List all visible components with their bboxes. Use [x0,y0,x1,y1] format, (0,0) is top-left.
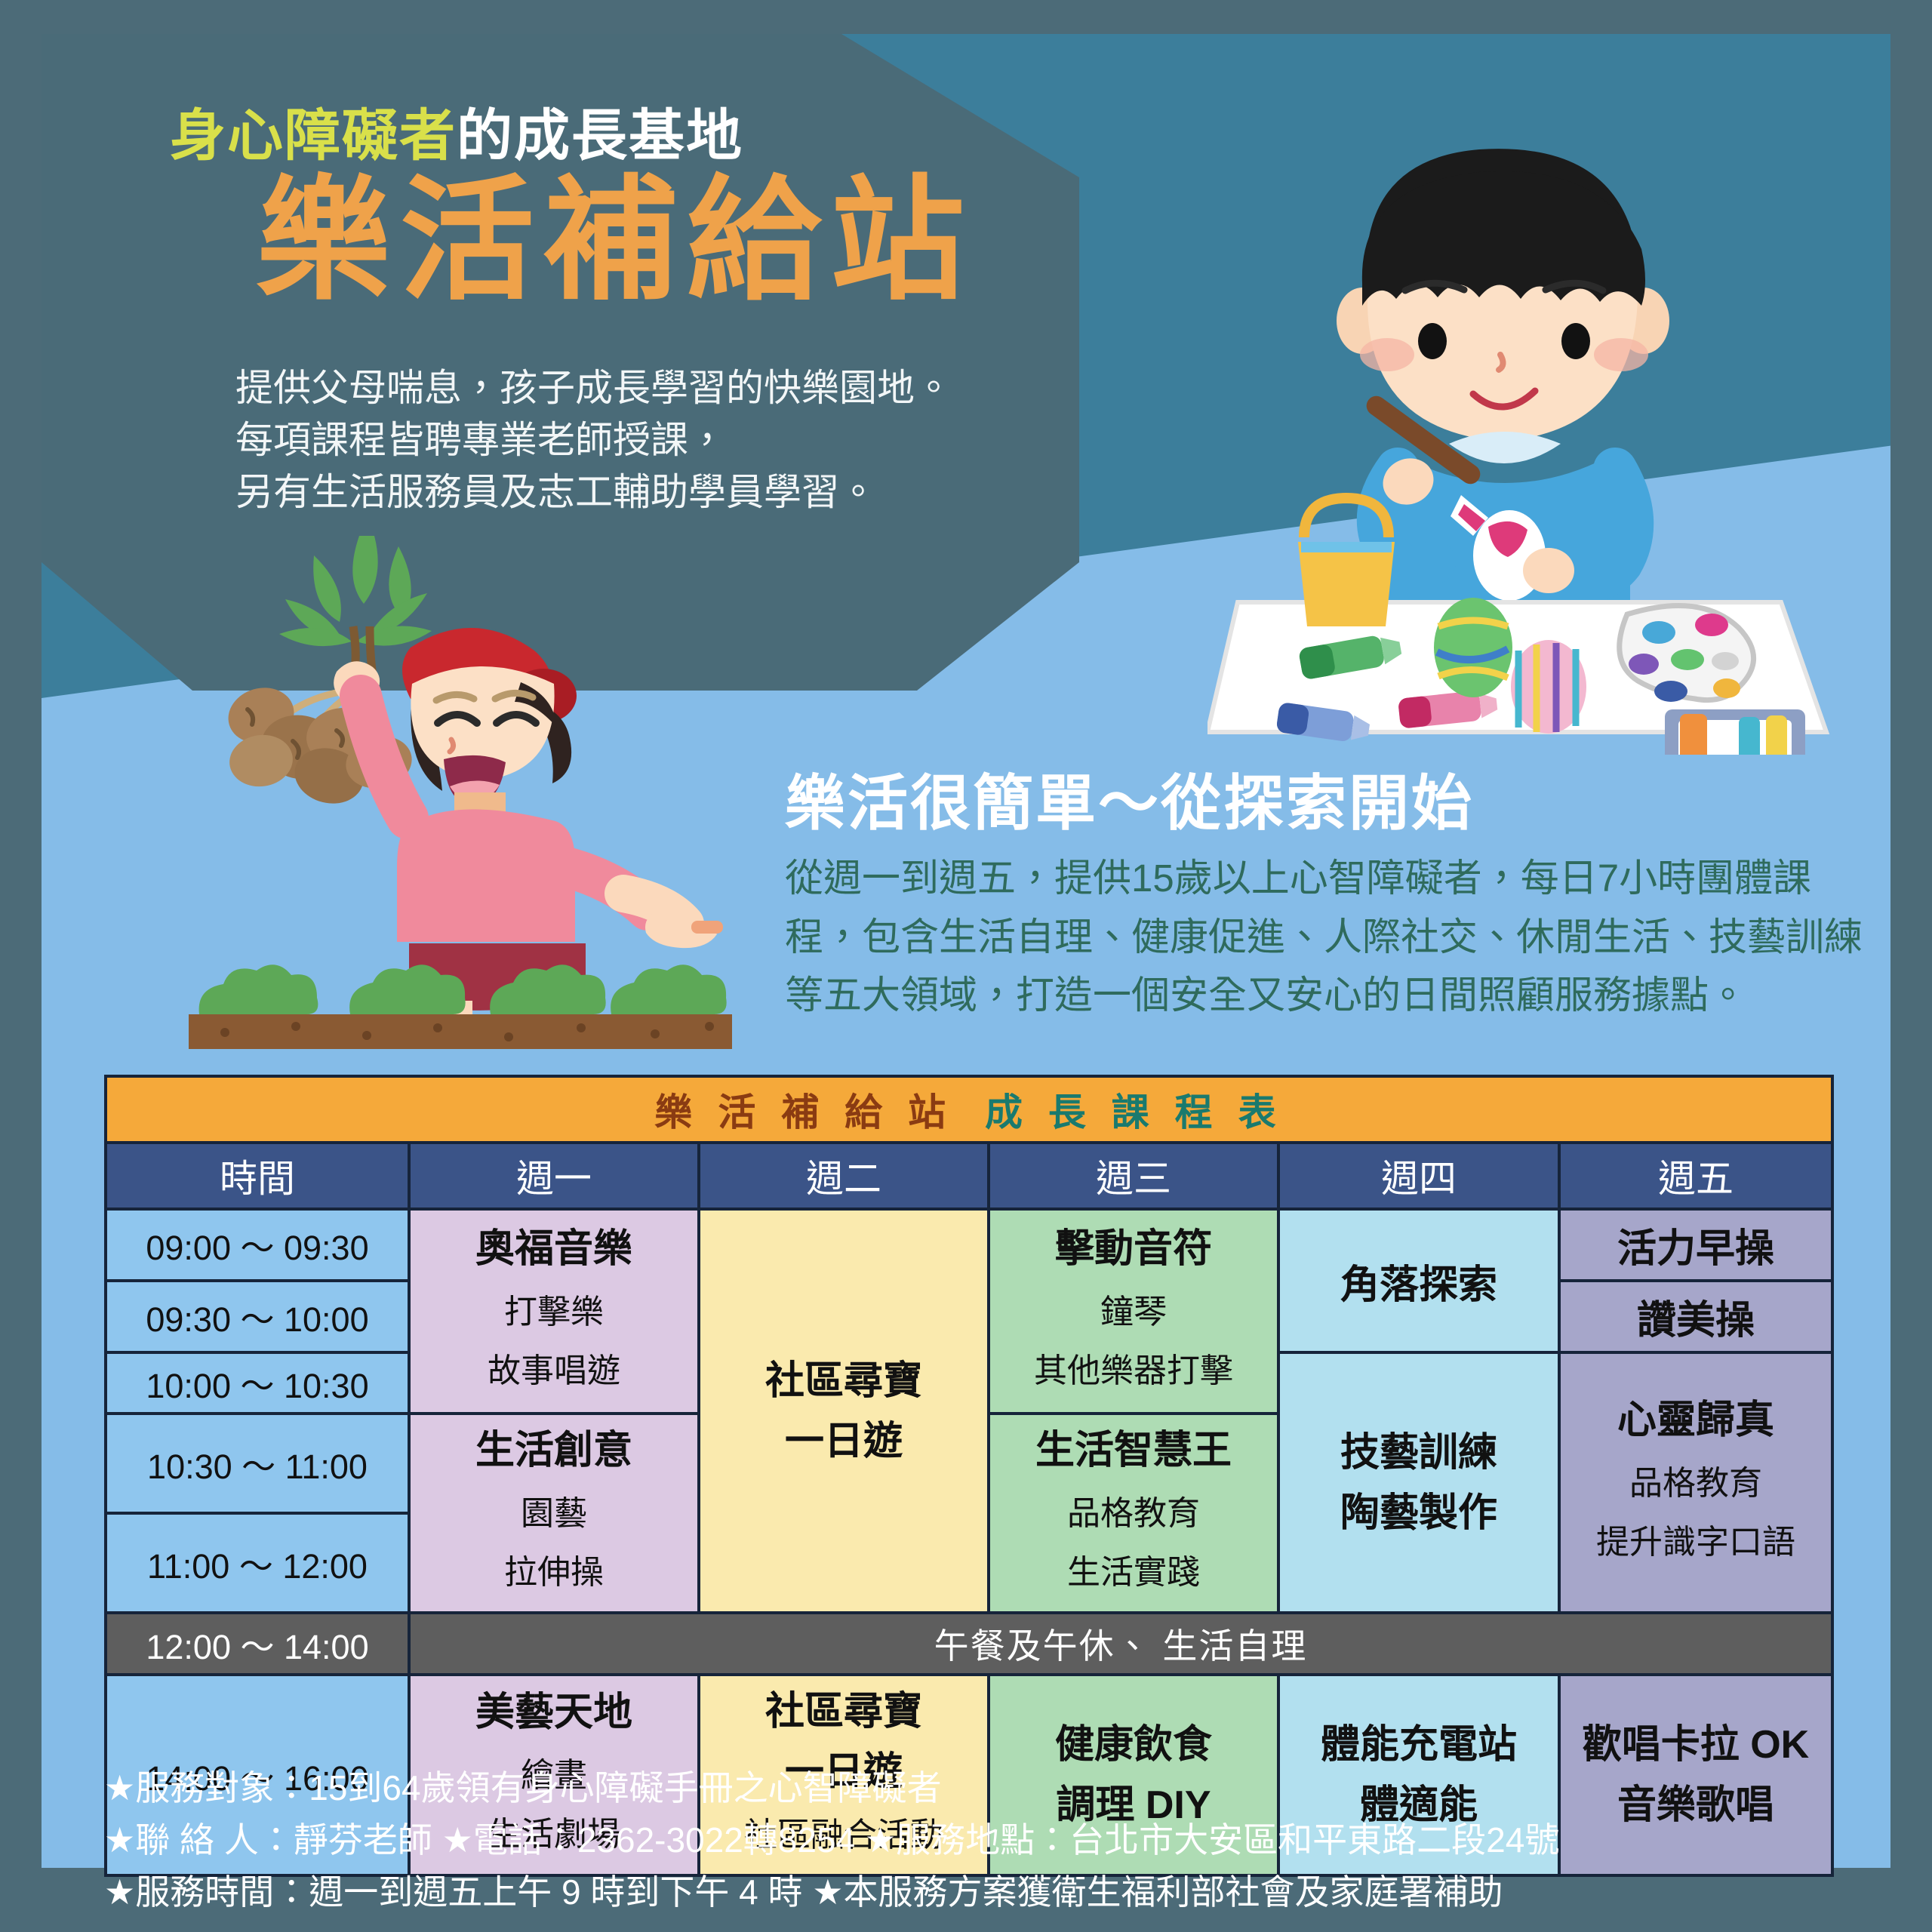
cell-line: 鐘琴 [993,1287,1274,1337]
cell-title: 技藝訓練 [1283,1423,1555,1482]
cell-stack: 奧福音樂 打擊樂 故事唱遊 [414,1220,694,1396]
eyebrow-rest: 的成長基地 [457,104,743,167]
cell-thu-morning-2: 技藝訓練 陶藝製作 [1278,1352,1559,1613]
girl-gardening-svg [189,521,732,1049]
cell-fri-morning-1: 活力早操 [1559,1209,1832,1281]
cell-line: 生活實踐 [993,1548,1274,1598]
cell-title: 美藝天地 [414,1683,694,1742]
time-slot-1100: 11:00 〜 12:00 [106,1513,409,1613]
cell-line: 品格教育 [993,1489,1274,1539]
time-slot-1000: 10:00 〜 10:30 [106,1352,409,1414]
cell-stack: 社區尋寶 一日遊 [703,1352,984,1471]
page-title: 樂活補給站 [257,174,974,308]
cell-line: 其他樂器打擊 [993,1346,1274,1396]
cell-lunch-break: 午餐及午休、 生活自理 [409,1613,1832,1675]
cell-line: 陶藝製作 [1283,1484,1555,1543]
cell-line: 拉伸操 [414,1548,694,1598]
section-paragraph: 從週一到週五，提供15歲以上心智障礙者，每日7小時團體課程，包含生活自理、健康促… [785,849,1864,1025]
cell-line: 品格教育 [1564,1459,1828,1509]
cell-title: 讚美操 [1564,1288,1828,1345]
cell-tue-morning: 社區尋寶 一日遊 [699,1209,989,1613]
cell-title: 生活創意 [414,1421,694,1480]
column-header-tuesday: 週二 [699,1143,989,1209]
boy-painting-illustration [1207,128,1857,755]
cell-title: 心靈歸真 [1564,1391,1828,1450]
column-header-friday: 週五 [1559,1143,1832,1209]
cell-line: 故事唱遊 [414,1346,694,1396]
cell-stack: 技藝訓練 陶藝製作 [1283,1423,1555,1543]
caption-orange-text: 樂 活 補 給 站 [654,1091,953,1134]
cell-fri-morning-2: 讚美操 [1559,1281,1832,1352]
cell-mon-morning-1: 奧福音樂 打擊樂 故事唱遊 [409,1209,699,1414]
cell-line: 一日遊 [703,1412,984,1471]
eyebrow-tagline: 身心障礙者的成長基地 [170,91,743,171]
cell-stack: 擊動音符 鐘琴 其他樂器打擊 [993,1220,1274,1396]
time-slot-0930: 09:30 〜 10:00 [106,1281,409,1352]
girl-gardening-illustration [189,521,732,1049]
table-header-row: 時間 週一 週二 週三 週四 週五 [106,1143,1832,1209]
cell-title: 社區尋寶 [703,1352,984,1411]
poster-root: 身心障礙者的成長基地 樂活補給站 提供父母喘息，孩子成長學習的快樂園地。 每項課… [0,0,1932,1932]
time-slot-0900: 09:00 〜 09:30 [106,1209,409,1281]
cell-wed-morning-1: 擊動音符 鐘琴 其他樂器打擊 [989,1209,1278,1414]
cell-title: 奧福音樂 [414,1220,694,1278]
column-header-monday: 週一 [409,1143,699,1209]
cell-stack: 生活智慧王 品格教育 生活實踐 [993,1421,1274,1598]
table-row: 09:00 〜 09:30 奧福音樂 打擊樂 故事唱遊 社區尋寶 一日遊 [106,1209,1832,1281]
schedule-table: 樂 活 補 給 站成 長 課 程 表 時間 週一 週二 週三 週四 週五 09:… [104,1075,1834,1877]
cell-fri-morning-3: 心靈歸真 品格教育 提升識字口語 [1559,1352,1832,1613]
cell-title: 生活智慧王 [993,1421,1274,1480]
cell-title: 角落探索 [1283,1253,1555,1309]
table-caption-row: 樂 活 補 給 站成 長 課 程 表 [106,1076,1832,1143]
table-caption: 樂 活 補 給 站成 長 課 程 表 [106,1076,1832,1143]
cell-title: 活力早操 [1564,1217,1828,1273]
cell-stack: 生活創意 園藝 拉伸操 [414,1421,694,1598]
time-slot-1200: 12:00 〜 14:00 [106,1613,409,1675]
column-header-time: 時間 [106,1143,409,1209]
cell-line: 打擊樂 [414,1287,694,1337]
table-row-lunch: 12:00 〜 14:00 午餐及午休、 生活自理 [106,1613,1832,1675]
eyebrow-highlight: 身心障礙者 [170,104,457,167]
boy-painting-svg [1207,128,1857,755]
cell-line: 園藝 [414,1489,694,1539]
cell-line: 提升識字口語 [1564,1518,1828,1567]
section-heading: 樂活很簡單～從探索開始 [785,755,1474,842]
time-slot-1030: 10:30 〜 11:00 [106,1414,409,1513]
lead-paragraph: 提供父母喘息，孩子成長學習的快樂園地。 每項課程皆聘專業老師授課， 另有生活服務… [235,362,952,518]
cell-title: 擊動音符 [993,1220,1274,1278]
cell-mon-morning-2: 生活創意 園藝 拉伸操 [409,1414,699,1613]
footer-contact-info: ★服務對象：15到64歲領有身心障礙手冊之心智障礙者 ★聯 絡 人：靜芬老師 ★… [104,1762,1832,1918]
cell-title: 社區尋寶 [703,1682,984,1741]
schedule-table-wrapper: 樂 活 補 給 站成 長 課 程 表 時間 週一 週二 週三 週四 週五 09:… [104,1075,1831,1877]
caption-teal-text: 成 長 課 程 表 [985,1091,1284,1134]
cell-wed-morning-2: 生活智慧王 品格教育 生活實踐 [989,1414,1278,1613]
column-header-thursday: 週四 [1278,1143,1559,1209]
cell-thu-morning-1: 角落探索 [1278,1209,1559,1352]
column-header-wednesday: 週三 [989,1143,1278,1209]
cell-stack: 心靈歸真 品格教育 提升識字口語 [1564,1391,1828,1567]
